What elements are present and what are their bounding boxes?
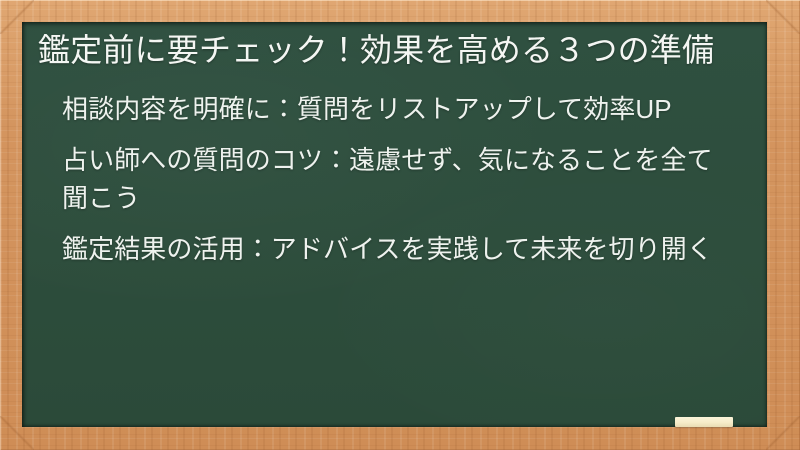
list-item: 占い師への質問のコツ：遠慮せず、気になることを全て聞こう [62,141,723,217]
chalkboard-surface: 鑑定前に要チェック！効果を高める３つの準備 相談内容を明確に：質問をリストアップ… [22,22,767,427]
chalkboard-content: 鑑定前に要チェック！効果を高める３つの準備 相談内容を明確に：質問をリストアップ… [22,22,767,427]
chalk-stick [675,417,733,427]
chalkboard-slide: 鑑定前に要チェック！効果を高める３つの準備 相談内容を明確に：質問をリストアップ… [0,0,800,450]
list-item: 鑑定結果の活用：アドバイスを実践して未来を切り開く [62,230,723,268]
bullet-list: 相談内容を明確に：質問をリストアップして効率UP 占い師への質問のコツ：遠慮せず… [30,90,749,268]
slide-title: 鑑定前に要チェック！効果を高める３つの準備 [30,30,749,71]
list-item: 相談内容を明確に：質問をリストアップして効率UP [62,90,723,128]
